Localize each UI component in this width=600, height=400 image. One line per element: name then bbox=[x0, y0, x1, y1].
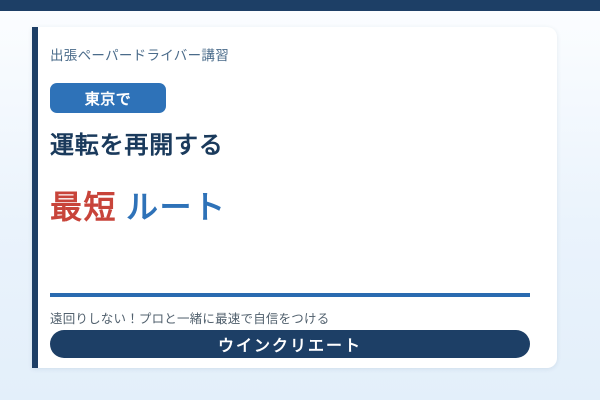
cta-button-label: ウインクリエート bbox=[218, 332, 362, 356]
card-body: 出張ペーパードライバー講習 東京で 運転を再開する 最短ルート 遠回りしない！プ… bbox=[50, 27, 557, 368]
headline-secondary: 最短ルート bbox=[50, 182, 227, 228]
tagline-text: 遠回りしない！プロと一緒に最速で自信をつける bbox=[50, 308, 329, 327]
top-navy-bar bbox=[0, 0, 600, 11]
card-accent-rail bbox=[32, 27, 38, 368]
region-badge[interactable]: 東京で bbox=[50, 83, 166, 113]
headline-tail-word: ルート bbox=[126, 189, 227, 225]
region-badge-label: 東京で bbox=[85, 88, 132, 109]
headline-primary: 運転を再開する bbox=[50, 125, 224, 160]
cta-button[interactable]: ウインクリエート bbox=[50, 330, 530, 358]
section-divider bbox=[50, 293, 530, 297]
headline-highlight-word: 最短 bbox=[50, 189, 117, 225]
eyebrow-text: 出張ペーパードライバー講習 bbox=[50, 44, 229, 64]
hero-card: 出張ペーパードライバー講習 東京で 運転を再開する 最短ルート 遠回りしない！プ… bbox=[32, 27, 557, 368]
